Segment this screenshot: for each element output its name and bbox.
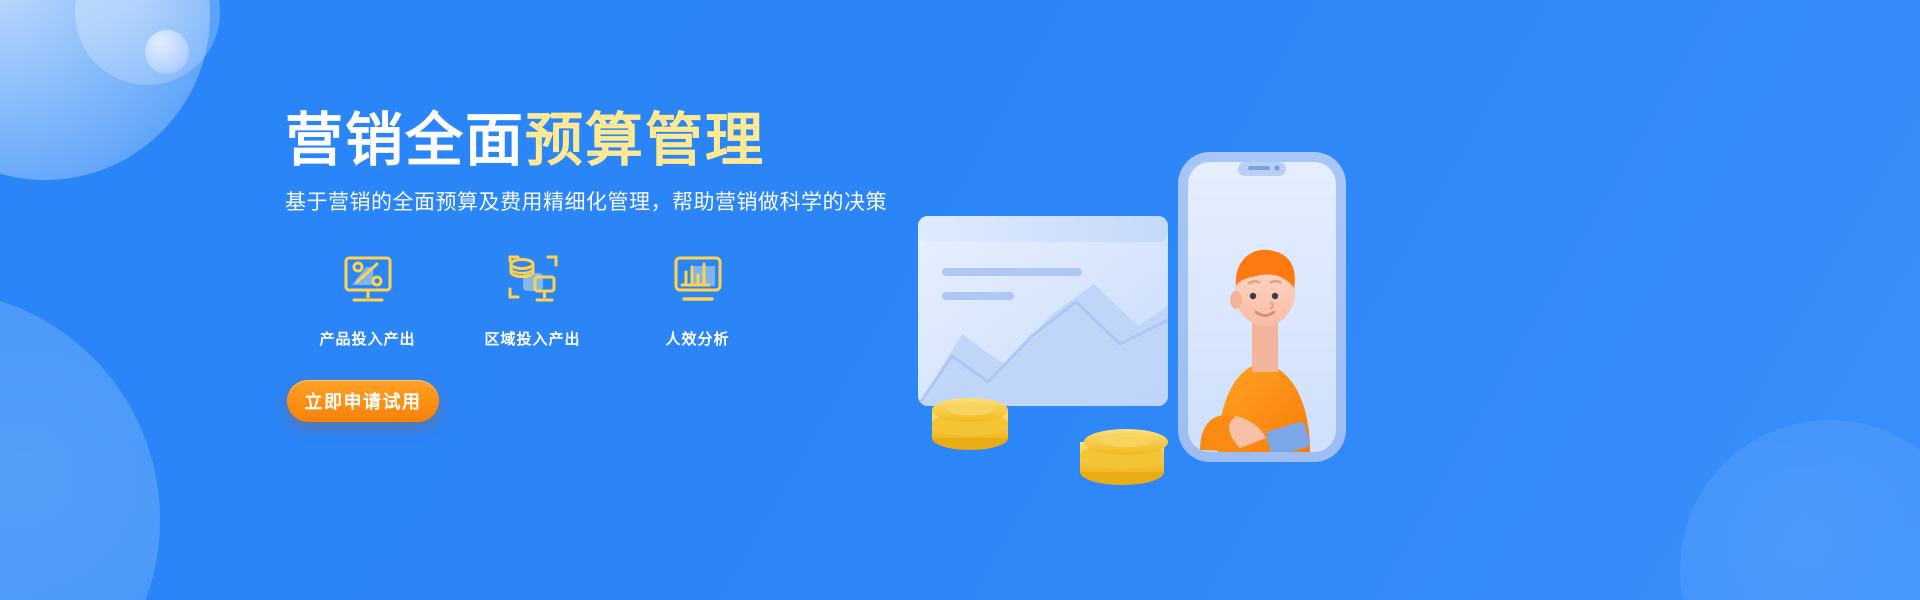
coin-stack-right [1080, 429, 1168, 485]
page-title-accent: 预算管理 [525, 108, 765, 173]
apply-trial-button[interactable]: 立即申请试用 [287, 380, 439, 422]
feature-label: 产品投入产出 [285, 328, 450, 349]
decorative-circle-large-topleft [0, 0, 210, 180]
decorative-circle-medium-top [75, 0, 220, 85]
page-title-primary: 营销全面 [285, 108, 525, 173]
gold-coin-stacks [932, 398, 1168, 485]
decorative-circle-bottomleft [0, 290, 160, 600]
database-device-icon [450, 252, 615, 310]
feature-label: 人效分析 [615, 328, 780, 349]
marketing-hero-banner: 营销全面预算管理 基于营销的全面预算及费用精细化管理，帮助营销做科学的决策 产品… [0, 0, 1920, 600]
hero-illustration [900, 120, 1420, 490]
feature-item-product-io[interactable]: 产品投入产出 [285, 252, 450, 349]
feature-label: 区域投入产出 [450, 328, 615, 349]
analytics-card [918, 216, 1168, 406]
feature-item-region-io[interactable]: 区域投入产出 [450, 252, 615, 349]
feature-list: 产品投入产出 区域投入产出 [285, 252, 780, 349]
hero-copy: 营销全面预算管理 基于营销的全面预算及费用精细化管理，帮助营销做科学的决策 [285, 112, 1005, 217]
smartphone-frame [1178, 152, 1346, 462]
feature-item-efficiency[interactable]: 人效分析 [615, 252, 780, 349]
decorative-circle-small [145, 30, 189, 74]
page-title: 营销全面预算管理 [285, 112, 1005, 170]
page-subtitle: 基于营销的全面预算及费用精细化管理，帮助营销做科学的决策 [285, 188, 1005, 217]
coin-stack-left [932, 398, 1008, 450]
decorative-circle-bottomright [1680, 420, 1920, 600]
percent-monitor-icon [285, 252, 450, 310]
bar-chart-monitor-icon [615, 252, 780, 310]
